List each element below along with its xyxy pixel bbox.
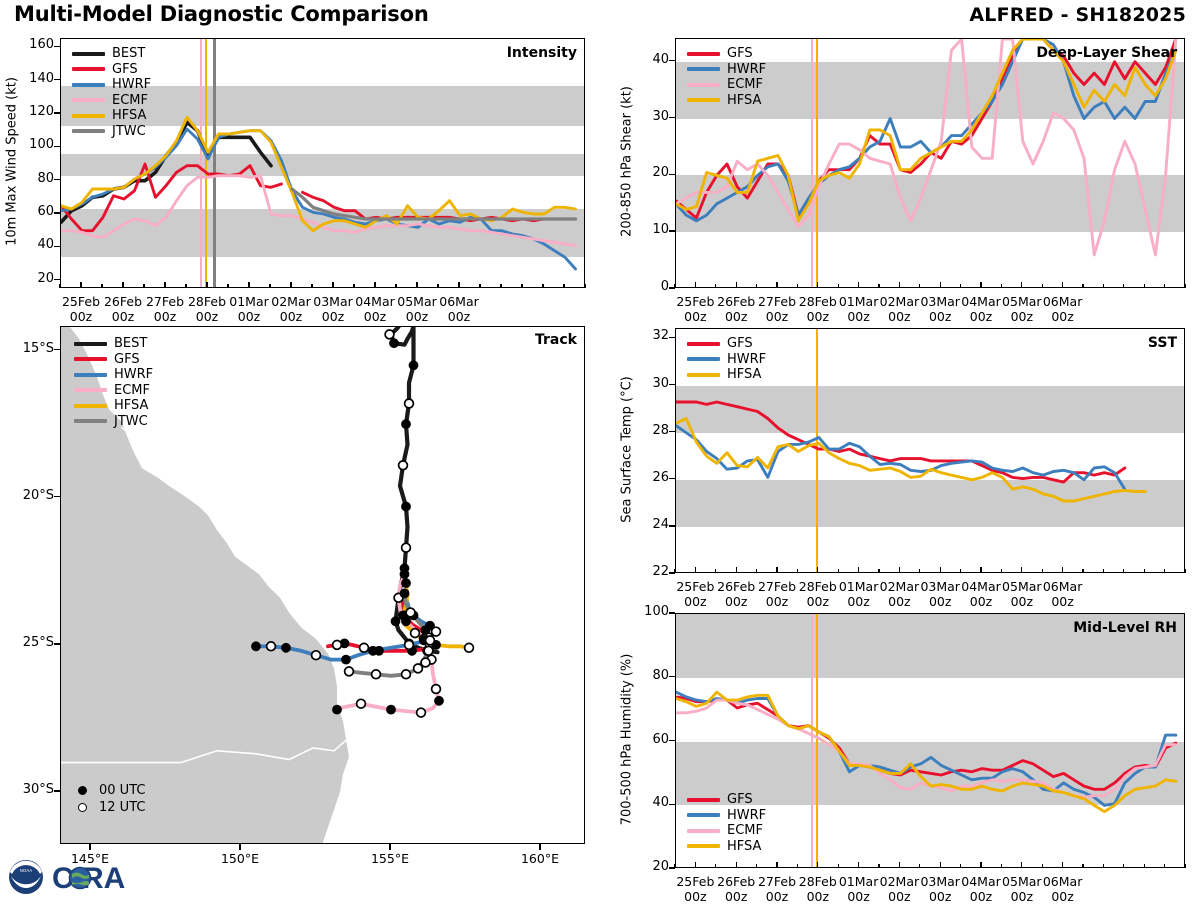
legend-label: GFS [112, 62, 138, 77]
x-minor-tick [437, 284, 438, 288]
x-minor-tick [1123, 284, 1124, 288]
x-minor-tick [960, 569, 961, 573]
track-marker-12utc [424, 646, 433, 655]
legend-swatch-gfs [687, 798, 720, 802]
x-minor-tick [838, 569, 839, 573]
lon-tick-mark [389, 844, 390, 850]
legend-label: HWRF [727, 808, 766, 823]
x-minor-tick [248, 284, 249, 288]
legend-label: HWRF [727, 62, 766, 77]
x-minor-tick [919, 569, 920, 573]
y-tick-mark [669, 60, 675, 61]
legend-label: GFS [727, 336, 753, 351]
legend-label: JTWC [112, 124, 146, 139]
y-tick-mark [54, 112, 60, 113]
y-tick-mark [669, 117, 675, 118]
x-minor-tick [878, 284, 879, 288]
legend-sst: GFSHWRFHFSA [687, 336, 766, 383]
x-minor-tick [59, 284, 60, 288]
legend-swatch-hfsa [687, 373, 720, 377]
y-tick-label: 80 [16, 171, 54, 186]
track-marker-12utc [426, 636, 435, 645]
x-minor-tick [332, 284, 333, 288]
y-tick-label: 30 [631, 109, 669, 124]
y-tick-mark [669, 676, 675, 677]
legend-item-ecmf[interactable]: ECMF [687, 823, 766, 839]
legend-swatch-hwrf [72, 83, 105, 87]
lat-tick-label: 25°S [4, 635, 54, 650]
legend-swatch-gfs [687, 342, 720, 346]
legend-item-hfsa[interactable]: HFSA [74, 398, 153, 414]
x-minor-tick [1103, 864, 1104, 868]
storm-id-label: ALFRED - SH182025 [969, 4, 1186, 26]
track-marker-00utc [369, 646, 378, 655]
x-minor-tick [980, 864, 981, 868]
y-tick-mark [669, 384, 675, 385]
legend-swatch-hwrf [687, 67, 720, 71]
panel-shear: Deep-Layer Shear010203040200-850 hPa She… [600, 28, 1200, 318]
legend-swatch-ecmf [687, 829, 720, 833]
legend-label: ECMF [727, 77, 763, 92]
lon-tick-mark [239, 844, 240, 850]
x-minor-tick [1103, 569, 1104, 573]
track-marker-00utc [402, 579, 411, 588]
y-tick-label: 20 [631, 165, 669, 180]
track-marker-00utc [400, 589, 409, 598]
lat-tick-label: 15°S [4, 341, 54, 356]
x-minor-tick [206, 284, 207, 288]
track-marker-00utc [282, 643, 291, 652]
legend-label: ECMF [727, 823, 763, 838]
y-tick-mark [669, 431, 675, 432]
y-tick-label: 40 [631, 795, 669, 810]
x-minor-tick [479, 284, 480, 288]
track-marker-12utc [357, 699, 366, 708]
x-minor-tick [797, 284, 798, 288]
legend-item-ecmf[interactable]: ECMF [687, 77, 766, 93]
legend-item-hwrf[interactable]: HWRF [74, 367, 153, 383]
y-tick-label: 26 [631, 470, 669, 485]
x-minor-tick [1184, 284, 1185, 288]
x-minor-tick [797, 569, 798, 573]
y-tick-label: 100 [16, 137, 54, 152]
x-minor-tick [776, 569, 777, 573]
x-minor-tick [521, 284, 522, 288]
track-marker-12utc [360, 643, 369, 652]
marker-symbol-12utc [78, 803, 87, 812]
x-minor-tick [960, 864, 961, 868]
y-tick-mark [54, 146, 60, 147]
y-tick-label: 80 [631, 668, 669, 683]
track-marker-12utc [405, 399, 414, 408]
y-tick-label: 40 [631, 52, 669, 67]
y-tick-mark [669, 525, 675, 526]
y-tick-label: 0 [631, 279, 669, 294]
legend-shear: GFSHWRFECMFHFSA [687, 46, 766, 108]
legend-swatch-best [72, 52, 105, 56]
legend-item-gfs[interactable]: GFS [687, 46, 766, 62]
legend-label: JTWC [114, 414, 148, 429]
lat-tick-mark [54, 790, 60, 791]
legend-item-hwrf[interactable]: HWRF [687, 808, 766, 824]
legend-swatch-hfsa [687, 844, 720, 848]
x-minor-tick [542, 284, 543, 288]
track-marker-00utc [402, 420, 411, 429]
lon-tick-label: 155°E [348, 851, 432, 866]
x-minor-tick [164, 284, 165, 288]
legend-swatch-gfs [72, 67, 105, 71]
x-minor-tick [1062, 284, 1063, 288]
x-minor-tick [1123, 569, 1124, 573]
x-minor-tick [1062, 864, 1063, 868]
x-minor-tick [674, 284, 675, 288]
x-minor-tick [776, 284, 777, 288]
y-tick-mark [54, 179, 60, 180]
y-tick-label: 28 [631, 423, 669, 438]
x-minor-tick [1042, 864, 1043, 868]
legend-label: ECMF [112, 93, 148, 108]
panel-title-track: Track [535, 332, 577, 348]
x-minor-tick [817, 284, 818, 288]
x-minor-tick [122, 284, 123, 288]
x-minor-tick [980, 284, 981, 288]
x-minor-tick [1164, 569, 1165, 573]
legend-item-hfsa[interactable]: HFSA [687, 93, 766, 109]
legend-label: HWRF [114, 367, 153, 382]
x-minor-tick [919, 864, 920, 868]
x-minor-tick [458, 284, 459, 288]
cira-logo-icon: C RA [52, 860, 130, 896]
lon-tick-label: 150°E [198, 851, 282, 866]
track-marker-12utc [372, 670, 381, 679]
noaa-logo-icon: NOAA [6, 858, 50, 898]
x-minor-tick [695, 284, 696, 288]
legend-item-jtwc[interactable]: JTWC [72, 124, 151, 140]
legend-label: HFSA [727, 839, 761, 854]
y-tick-label: 32 [631, 328, 669, 343]
track-marker-12utc [417, 708, 426, 717]
panel-track: Track15°S20°S25°S30°S145°E150°E155°E160°… [0, 318, 600, 878]
lon-tick-mark [539, 844, 540, 850]
x-minor-tick [1144, 569, 1145, 573]
y-tick-mark [669, 230, 675, 231]
legend-label: HFSA [114, 398, 148, 413]
lon-tick-mark [89, 844, 90, 850]
y-tick-mark [669, 337, 675, 338]
legend-label: GFS [727, 792, 753, 807]
x-minor-tick [878, 569, 879, 573]
x-minor-tick [1082, 864, 1083, 868]
legend-swatch-gfs [687, 52, 720, 56]
y-tick-label: 22 [631, 564, 669, 579]
track-marker-12utc [411, 629, 420, 638]
legend-swatch-hfsa [72, 114, 105, 118]
legend-label: HWRF [727, 352, 766, 367]
track-marker-00utc [333, 705, 342, 714]
x-minor-tick [736, 569, 737, 573]
track-marker-00utc [252, 642, 261, 651]
y-axis-label-rh: 700-500 hPa Humidity (%) [620, 612, 635, 867]
x-minor-tick [899, 284, 900, 288]
track-marker-00utc [421, 626, 430, 635]
x-minor-tick [695, 864, 696, 868]
marker-symbol-00utc [78, 786, 87, 795]
track-marker-00utc [402, 502, 411, 511]
x-minor-tick [899, 569, 900, 573]
legend-swatch-gfs [74, 357, 107, 361]
legend-swatch-best [74, 342, 107, 346]
track-marker-12utc [333, 641, 342, 650]
marker-legend-item: 12 UTC [68, 799, 145, 816]
legend-label: HFSA [727, 93, 761, 108]
y-tick-mark [54, 79, 60, 80]
lat-tick-mark [54, 643, 60, 644]
x-minor-tick [227, 284, 228, 288]
y-tick-label: 40 [16, 237, 54, 252]
track-marker-12utc [405, 641, 414, 650]
x-minor-tick [940, 284, 941, 288]
y-tick-label: 10 [631, 222, 669, 237]
y-tick-mark [669, 740, 675, 741]
y-tick-label: 30 [631, 376, 669, 391]
x-minor-tick [80, 284, 81, 288]
y-tick-mark [54, 46, 60, 47]
lat-tick-mark [54, 496, 60, 497]
x-minor-tick [940, 864, 941, 868]
x-minor-tick [674, 864, 675, 868]
x-minor-tick [1164, 864, 1165, 868]
x-minor-tick [715, 284, 716, 288]
x-minor-tick [353, 284, 354, 288]
legend-item-gfs[interactable]: GFS [74, 352, 153, 368]
marker-legend-item: 00 UTC [68, 782, 145, 799]
branding-logos: NOAA C RA [6, 858, 130, 898]
legend-swatch-jtwc [74, 419, 107, 423]
x-minor-tick [858, 864, 859, 868]
track-marker-00utc [409, 361, 418, 370]
x-minor-tick [756, 569, 757, 573]
x-minor-tick [695, 569, 696, 573]
track-marker-00utc [435, 696, 444, 705]
x-minor-tick [838, 864, 839, 868]
x-minor-tick [674, 569, 675, 573]
legend-item-hfsa[interactable]: HFSA [687, 839, 766, 855]
y-tick-mark [669, 478, 675, 479]
x-minor-tick [715, 569, 716, 573]
x-minor-tick [756, 284, 757, 288]
y-tick-mark [669, 174, 675, 175]
legend-swatch-hfsa [74, 404, 107, 408]
panel-intensity: Intensity2040608010012014016010m Max Win… [0, 28, 600, 318]
panel-title-sst: SST [1148, 335, 1177, 351]
x-minor-tick [817, 569, 818, 573]
lat-tick-label: 30°S [4, 782, 54, 797]
legend-item-jtwc[interactable]: JTWC [74, 414, 153, 430]
x-minor-tick [756, 864, 757, 868]
y-tick-label: 100 [631, 604, 669, 619]
x-minor-tick [416, 284, 417, 288]
legend-item-gfs[interactable]: GFS [72, 62, 151, 78]
y-tick-mark [669, 612, 675, 613]
x-minor-tick [1144, 284, 1145, 288]
legend-swatch-jtwc [72, 129, 105, 133]
x-minor-tick [185, 284, 186, 288]
x-minor-tick [1042, 284, 1043, 288]
x-minor-tick [960, 284, 961, 288]
x-minor-tick [584, 284, 585, 288]
x-minor-tick [1021, 284, 1022, 288]
x-minor-tick [736, 864, 737, 868]
legend-label: HWRF [112, 77, 151, 92]
legend-item-gfs[interactable]: GFS [687, 336, 766, 352]
lat-tick-mark [54, 349, 60, 350]
x-minor-tick [1021, 569, 1022, 573]
svg-text:NOAA: NOAA [20, 868, 33, 873]
legend-item-best[interactable]: BEST [74, 336, 153, 352]
y-tick-label: 24 [631, 517, 669, 532]
y-tick-mark [669, 804, 675, 805]
x-minor-tick [1021, 864, 1022, 868]
track-marker-12utc [432, 627, 441, 636]
track-marker-12utc [345, 667, 354, 676]
track-marker-00utc [391, 617, 400, 626]
legend-item-hfsa[interactable]: HFSA [687, 367, 766, 383]
track-marker-12utc [402, 670, 411, 679]
x-minor-tick [1184, 569, 1185, 573]
legend-item-hwrf[interactable]: HWRF [72, 77, 151, 93]
y-tick-mark [54, 279, 60, 280]
track-marker-00utc [342, 655, 351, 664]
y-tick-label: 60 [16, 204, 54, 219]
x-minor-tick [838, 284, 839, 288]
legend-item-ecmf[interactable]: ECMF [74, 383, 153, 399]
x-minor-tick [1001, 569, 1002, 573]
legend-item-hwrf[interactable]: HWRF [687, 352, 766, 368]
x-minor-tick [374, 284, 375, 288]
x-minor-tick [980, 569, 981, 573]
x-minor-tick [1164, 284, 1165, 288]
panel-title-shear: Deep-Layer Shear [1036, 45, 1177, 61]
x-minor-tick [1042, 569, 1043, 573]
legend-track: BESTGFSHWRFECMFHFSAJTWC [74, 336, 153, 429]
y-tick-label: 20 [631, 859, 669, 874]
x-minor-tick [1184, 864, 1185, 868]
x-minor-tick [290, 284, 291, 288]
legend-label: ECMF [114, 383, 150, 398]
x-minor-tick [1001, 284, 1002, 288]
y-tick-label: 160 [16, 37, 54, 52]
x-minor-tick [1103, 284, 1104, 288]
track-marker-12utc [385, 330, 394, 339]
track-marker-12utc [402, 543, 411, 552]
y-tick-mark [54, 246, 60, 247]
legend-label: HFSA [112, 108, 146, 123]
track-marker-12utc [432, 685, 441, 694]
x-minor-tick [1062, 569, 1063, 573]
legend-swatch-hwrf [687, 357, 720, 361]
track-marker-12utc [465, 643, 474, 652]
x-minor-tick [1001, 864, 1002, 868]
legend-label: GFS [727, 46, 753, 61]
x-minor-tick [797, 864, 798, 868]
y-tick-mark [54, 212, 60, 213]
panel-title-rh: Mid-Level RH [1073, 620, 1177, 636]
legend-label: HFSA [727, 367, 761, 382]
legend-swatch-hwrf [74, 373, 107, 377]
x-minor-tick [143, 284, 144, 288]
legend-swatch-ecmf [687, 83, 720, 87]
legend-item-best[interactable]: BEST [72, 46, 151, 62]
legend-label: BEST [112, 46, 145, 61]
panel-title-intensity: Intensity [507, 45, 577, 61]
x-minor-tick [817, 864, 818, 868]
track-marker-12utc [312, 651, 321, 660]
legend-label: GFS [114, 352, 140, 367]
x-minor-tick [940, 569, 941, 573]
y-tick-label: 60 [631, 732, 669, 747]
marker-legend-label: 00 UTC [99, 783, 145, 798]
x-minor-tick [563, 284, 564, 288]
legend-swatch-hwrf [687, 813, 720, 817]
legend-item-hwrf[interactable]: HWRF [687, 62, 766, 78]
y-axis-label-intensity: 10m Max Wind Speed (kt) [5, 37, 20, 287]
track-marker-00utc [400, 570, 409, 579]
legend-swatch-ecmf [72, 98, 105, 102]
x-minor-tick [899, 864, 900, 868]
y-tick-label: 20 [16, 271, 54, 286]
legend-rh: GFSHWRFECMFHFSA [687, 792, 766, 854]
y-tick-label: 120 [16, 104, 54, 119]
x-minor-tick [878, 864, 879, 868]
track-marker-00utc [387, 705, 396, 714]
track-marker-12utc [406, 608, 415, 617]
x-minor-tick [858, 569, 859, 573]
lon-tick-label: 160°E [498, 851, 582, 866]
series-line-ecmf [61, 176, 576, 246]
legend-intensity: BESTGFSHWRFECMFHFSAJTWC [72, 46, 151, 139]
x-minor-tick [1082, 569, 1083, 573]
y-axis-label-sst: Sea Surface Temp (°C) [620, 327, 635, 572]
series-line-gfs [676, 697, 1176, 789]
panel-sst: SST222426283032Sea Surface Temp (°C)25Fe… [600, 318, 1200, 603]
legend-label: BEST [114, 336, 147, 351]
legend-item-hfsa[interactable]: HFSA [72, 108, 151, 124]
x-minor-tick [736, 284, 737, 288]
page-title: Multi-Model Diagnostic Comparison [14, 2, 429, 26]
track-marker-00utc [390, 339, 399, 348]
x-minor-tick [776, 864, 777, 868]
x-minor-tick [715, 864, 716, 868]
y-axis-label-shear: 200-850 hPa Shear (kt) [620, 37, 635, 287]
track-marker-12utc [267, 642, 276, 651]
lat-tick-label: 20°S [4, 488, 54, 503]
x-minor-tick [395, 284, 396, 288]
x-minor-tick [1082, 284, 1083, 288]
marker-legend-label: 12 UTC [99, 800, 145, 815]
legend-item-ecmf[interactable]: ECMF [72, 93, 151, 109]
x-minor-tick [919, 284, 920, 288]
x-minor-tick [101, 284, 102, 288]
panel-rh: Mid-Level RH20406080100700-500 hPa Humid… [600, 603, 1200, 900]
x-minor-tick [311, 284, 312, 288]
legend-swatch-hfsa [687, 98, 720, 102]
x-minor-tick [1123, 864, 1124, 868]
legend-item-gfs[interactable]: GFS [687, 792, 766, 808]
x-minor-tick [500, 284, 501, 288]
legend-swatch-ecmf [74, 388, 107, 392]
track-marker-12utc [399, 461, 408, 470]
marker-legend: 00 UTC12 UTC [68, 782, 145, 816]
